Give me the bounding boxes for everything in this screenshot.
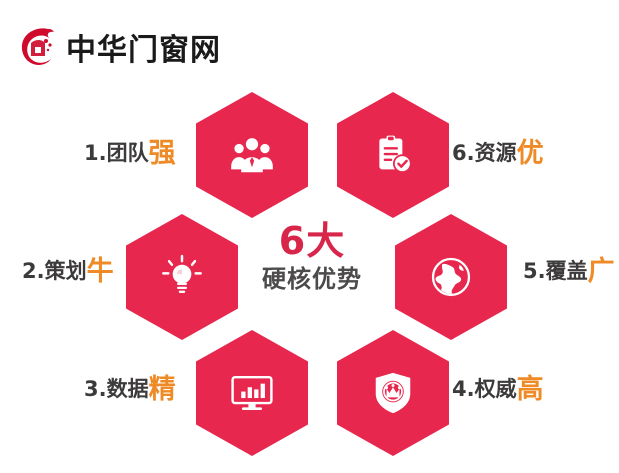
label-highlight-3: 精 xyxy=(149,374,176,405)
label-highlight-4: 高 xyxy=(517,374,544,405)
label-text-2: 策划 xyxy=(45,259,87,283)
label-text-4: 权威 xyxy=(475,377,517,401)
label-highlight-5: 广 xyxy=(588,256,615,287)
monitor-bar-chart-icon xyxy=(229,370,275,416)
label-highlight-6: 优 xyxy=(517,138,544,169)
label-highlight-1: 强 xyxy=(149,138,176,169)
label-index-3: 3. xyxy=(84,377,107,401)
hex-tile-planning[interactable] xyxy=(126,214,238,340)
center-headline-block: 6大 硬核优势 xyxy=(248,222,376,291)
label-highlight-2: 牛 xyxy=(87,256,114,287)
label-text-1: 团队 xyxy=(107,141,149,165)
center-subheadline: 硬核优势 xyxy=(248,267,376,291)
label-item-5[interactable]: 5.覆盖广 xyxy=(523,258,615,285)
label-text-6: 资源 xyxy=(475,141,517,165)
globe-earth-icon xyxy=(428,254,474,300)
label-text-3: 数据 xyxy=(107,377,149,401)
hex-tile-team[interactable] xyxy=(196,92,308,218)
hex-tile-data[interactable] xyxy=(196,330,308,456)
label-item-2[interactable]: 2.策划牛 xyxy=(22,258,114,285)
hex-tile-coverage[interactable] xyxy=(395,214,507,340)
clipboard-check-icon xyxy=(370,132,416,178)
label-text-5: 覆盖 xyxy=(546,259,588,283)
label-item-3[interactable]: 3.数据精 xyxy=(84,376,176,403)
hex-tile-resources[interactable] xyxy=(337,92,449,218)
lightbulb-idea-icon xyxy=(159,254,205,300)
team-people-icon xyxy=(229,132,275,178)
center-headline: 6大 xyxy=(248,222,376,260)
label-index-2: 2. xyxy=(22,259,45,283)
label-item-6[interactable]: 6.资源优 xyxy=(452,140,544,167)
label-item-1[interactable]: 1.团队强 xyxy=(84,140,176,167)
hex-tile-authority[interactable] xyxy=(337,330,449,456)
label-item-4[interactable]: 4.权威高 xyxy=(452,376,544,403)
label-index-4: 4. xyxy=(452,377,475,401)
shield-crown-icon xyxy=(370,370,416,416)
label-index-1: 1. xyxy=(84,141,107,165)
label-index-5: 5. xyxy=(523,259,546,283)
label-index-6: 6. xyxy=(452,141,475,165)
